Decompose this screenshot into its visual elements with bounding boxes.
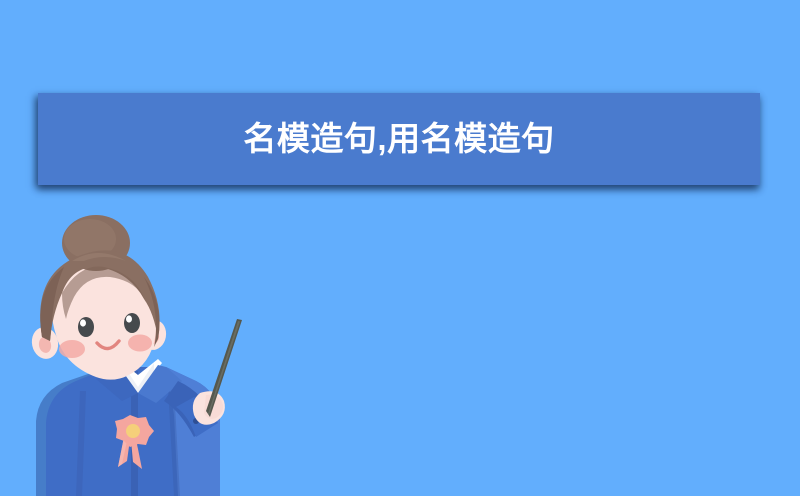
title-banner: 名模造句,用名模造句 <box>38 93 760 185</box>
teacher-illustration <box>18 215 258 496</box>
page-canvas: 名模造句,用名模造句 <box>0 0 800 496</box>
page-title: 名模造句,用名模造句 <box>243 122 554 155</box>
